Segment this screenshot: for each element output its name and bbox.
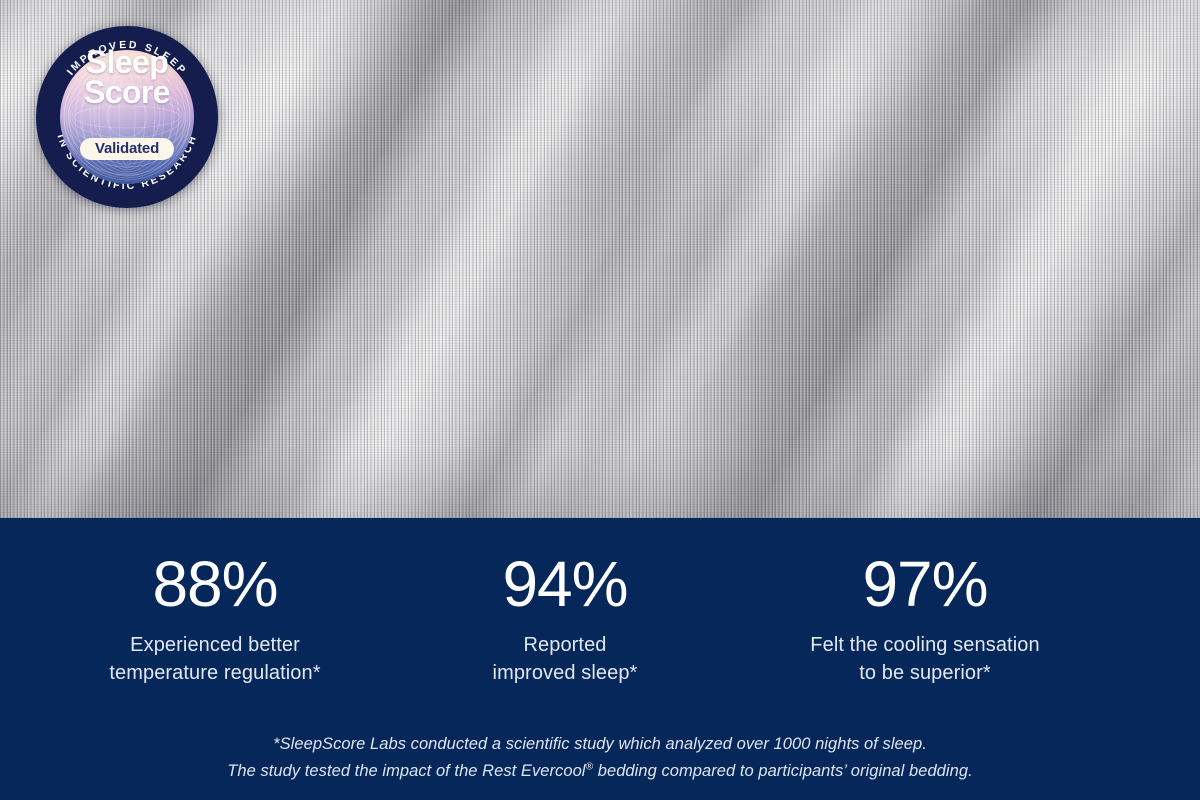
stat-item-cooling-sensation: 97% Felt the cooling sensation to be sup…: [750, 552, 1100, 687]
promo-graphic: IMPROVED SLEEP IN SCIENTIFIC RESEARCH: [0, 0, 1200, 800]
footnote-line-1: *SleepScore Labs conducted a scientific …: [0, 731, 1200, 758]
stats-row: 88% Experienced better temperature regul…: [0, 552, 1200, 687]
stats-band: 88% Experienced better temperature regul…: [0, 518, 1200, 800]
footnote-line-2-after-mark: bedding compared to participants’ origin…: [593, 762, 973, 780]
stat-item-temperature-regulation: 88% Experienced better temperature regul…: [40, 552, 390, 687]
stat-label-line-1: Felt the cooling sensation: [750, 632, 1100, 660]
badge-validated-pill: Validated: [80, 138, 174, 160]
stat-label: Experienced better temperature regulatio…: [40, 632, 390, 687]
badge-wordmark-line-2: Score: [36, 78, 218, 108]
badge-wordmark: Sleep Score: [36, 48, 218, 108]
stat-label-line-2: improved sleep*: [390, 660, 740, 688]
stat-label-line-2: temperature regulation*: [40, 660, 390, 688]
stat-item-improved-sleep: 94% Reported improved sleep*: [390, 552, 740, 687]
stat-label: Reported improved sleep*: [390, 632, 740, 687]
registered-trademark-icon: ®: [586, 761, 594, 772]
stat-value: 97%: [750, 552, 1100, 616]
sleepscore-validated-badge: IMPROVED SLEEP IN SCIENTIFIC RESEARCH: [36, 26, 218, 208]
stat-label-line-2: to be superior*: [750, 660, 1100, 688]
footnote-line-2-before-mark: The study tested the impact of the Rest …: [227, 762, 585, 780]
footnote-line-2: The study tested the impact of the Rest …: [0, 758, 1200, 785]
stat-label-line-1: Experienced better: [40, 632, 390, 660]
stat-label-line-1: Reported: [390, 632, 740, 660]
stat-label: Felt the cooling sensation to be superio…: [750, 632, 1100, 687]
stat-value: 94%: [390, 552, 740, 616]
study-footnote: *SleepScore Labs conducted a scientific …: [0, 731, 1200, 784]
stat-value: 88%: [40, 552, 390, 616]
